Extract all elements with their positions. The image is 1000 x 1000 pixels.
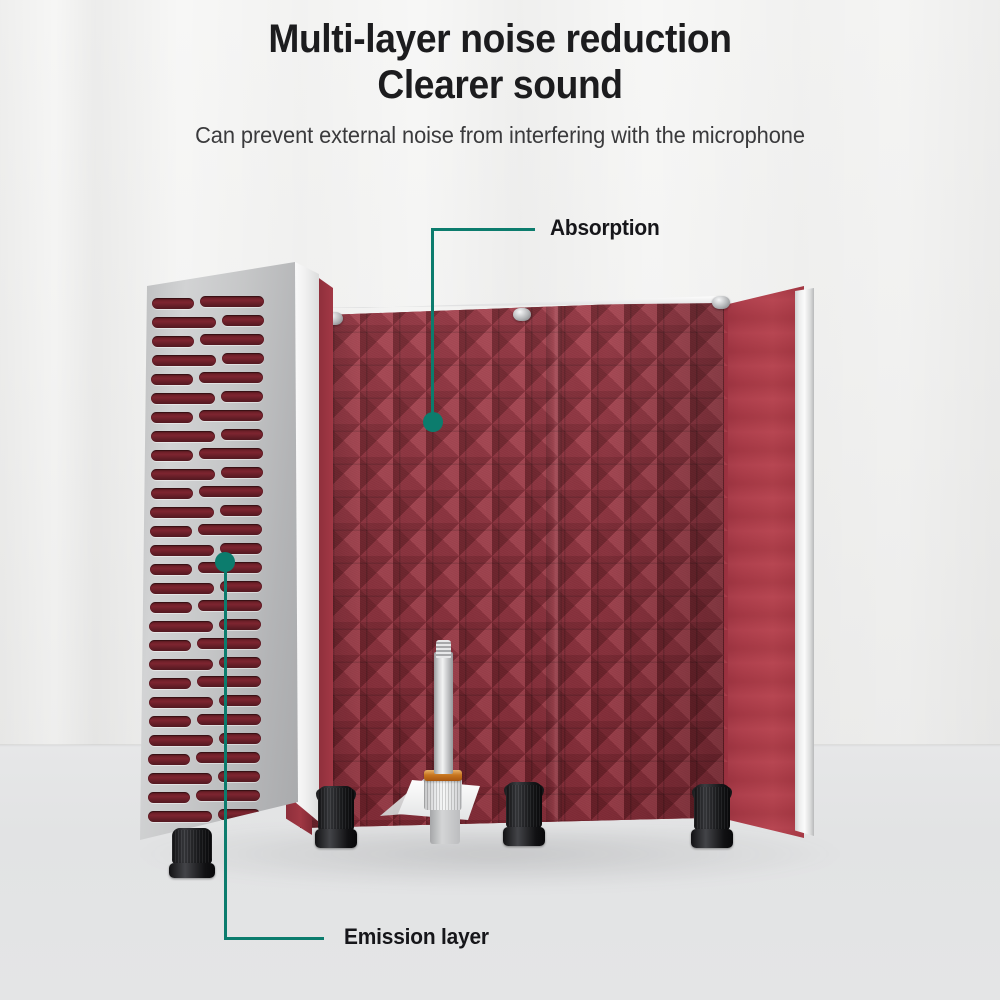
center-foam-panel xyxy=(300,300,724,828)
emission-marker-dot xyxy=(215,552,235,572)
foot-knurl xyxy=(172,830,212,863)
foot-right xyxy=(694,784,730,848)
vent-slot xyxy=(200,296,264,307)
vent-slot xyxy=(222,353,264,364)
vent-slot xyxy=(198,524,262,535)
mount-threaded-post xyxy=(434,652,453,774)
absorption-label: Absorption xyxy=(550,215,660,241)
vent-slot xyxy=(199,486,263,497)
foot-ring xyxy=(315,829,357,848)
vent-slot xyxy=(152,317,216,328)
absorption-marker-dot xyxy=(423,412,443,432)
vent-slot xyxy=(151,450,193,461)
vent-slot xyxy=(149,659,213,670)
vent-slot xyxy=(150,602,192,613)
vent-slot xyxy=(152,336,194,347)
vent-slot xyxy=(221,391,263,402)
vent-slot xyxy=(151,431,215,442)
mount-lower-barrel xyxy=(430,806,460,844)
vent-slot xyxy=(152,298,194,309)
emission-leader-horizontal xyxy=(224,937,324,940)
foot-left xyxy=(172,828,212,878)
absorption-leader-horizontal xyxy=(431,228,535,231)
vent-slot xyxy=(150,564,192,575)
foot-knurl xyxy=(506,785,542,827)
product-marketing-banner: Multi-layer noise reduction Clearer soun… xyxy=(0,0,1000,1000)
center-panel-shading xyxy=(300,300,724,828)
vent-slot xyxy=(149,621,213,632)
vent-slot xyxy=(151,488,193,499)
vent-slot xyxy=(150,545,214,556)
vent-slot xyxy=(199,372,263,383)
vent-slot xyxy=(196,790,260,801)
foot-center-right xyxy=(506,782,542,846)
vent-slot xyxy=(149,697,213,708)
vent-slot xyxy=(151,469,215,480)
foot-ring xyxy=(503,827,545,846)
foot-knurl xyxy=(694,787,730,829)
vent-slot xyxy=(220,505,262,516)
product-illustration xyxy=(0,0,1000,1000)
vent-slot xyxy=(149,716,191,727)
vent-slot xyxy=(149,735,213,746)
right-metal-edge-strip xyxy=(795,288,814,836)
left-wing-white-side-edge xyxy=(295,262,319,840)
vent-slot xyxy=(150,583,214,594)
vent-slot xyxy=(148,792,190,803)
foot-center-left xyxy=(318,786,354,848)
vent-slot xyxy=(151,412,193,423)
foot-ring xyxy=(169,863,215,878)
foot-ring xyxy=(691,829,733,848)
hinge-screw-2 xyxy=(513,308,531,321)
vent-slot xyxy=(197,638,261,649)
vent-slot xyxy=(151,393,215,404)
vent-slot xyxy=(199,410,263,421)
vent-slot xyxy=(151,374,193,385)
vent-slot xyxy=(199,448,263,459)
vent-slot xyxy=(149,640,191,651)
mount-screw-thread xyxy=(436,640,451,658)
vent-slot xyxy=(198,600,262,611)
hinge-screw-3 xyxy=(712,296,730,309)
vent-slot xyxy=(221,467,263,478)
vent-slot xyxy=(148,754,190,765)
vent-slot xyxy=(150,507,214,518)
vent-slot xyxy=(221,429,263,440)
vent-slot xyxy=(197,676,261,687)
left-wing-slot-grid xyxy=(140,262,298,842)
vent-slot xyxy=(148,773,212,784)
vent-slot xyxy=(150,526,192,537)
vent-slot xyxy=(196,752,260,763)
foot-knurl xyxy=(318,788,354,829)
emission-leader-vertical xyxy=(224,570,227,940)
mount-knurled-collar xyxy=(424,778,462,810)
vent-slot xyxy=(152,355,216,366)
absorption-leader-vertical xyxy=(431,229,434,421)
vent-slot xyxy=(148,811,212,822)
vent-slot xyxy=(149,678,191,689)
vent-slot xyxy=(200,334,264,345)
vent-slot xyxy=(197,714,261,725)
emission-layer-label: Emission layer xyxy=(344,924,489,950)
vent-slot xyxy=(222,315,264,326)
